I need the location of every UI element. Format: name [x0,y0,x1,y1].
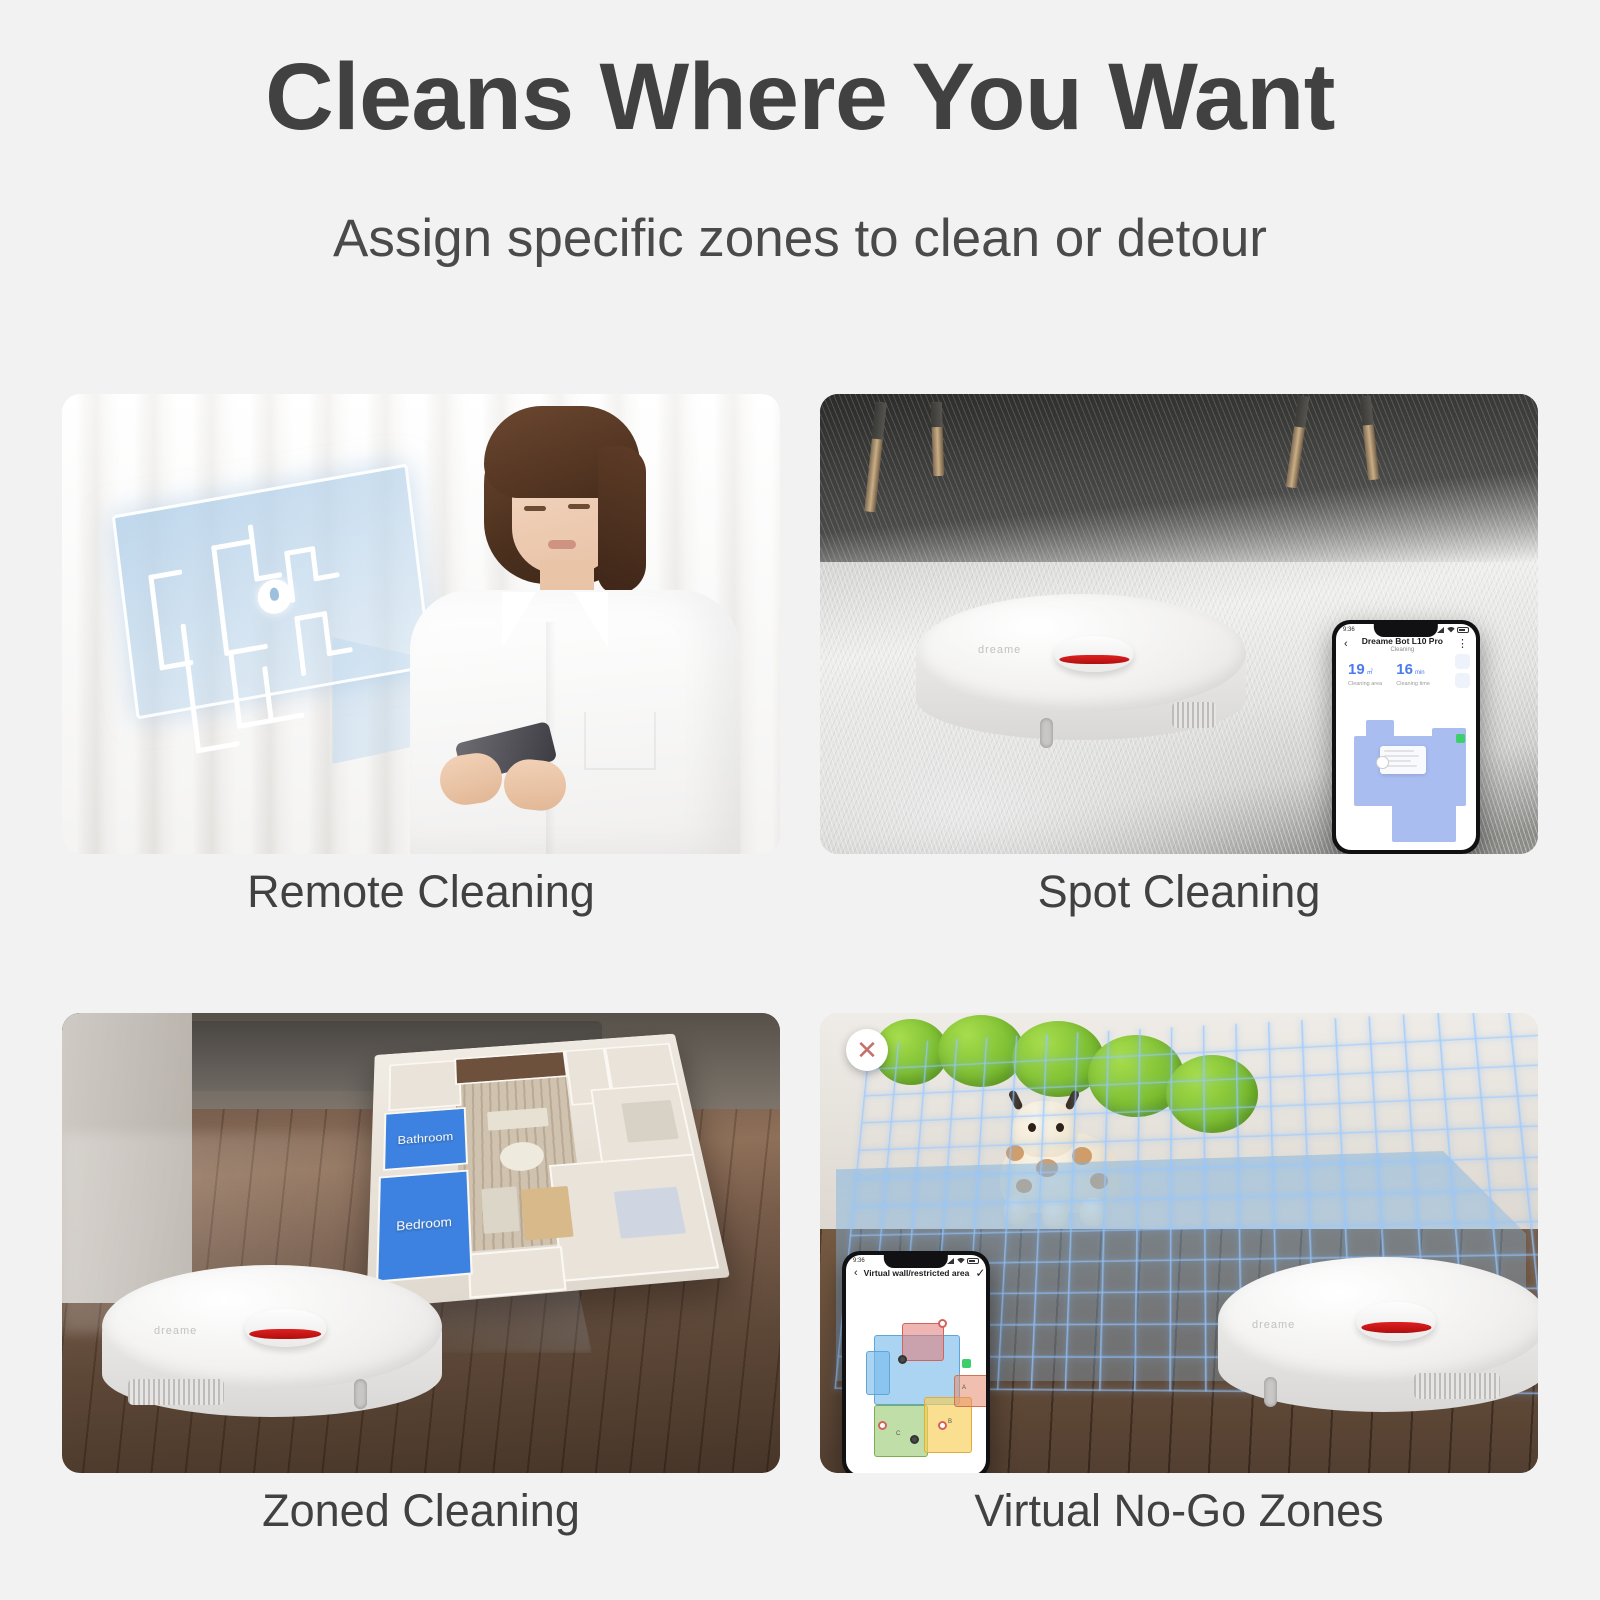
lidar-turret [1357,1302,1436,1342]
chevron-left-icon[interactable]: ‹ [854,1268,858,1279]
robot-bumper-slot [1040,718,1053,748]
spot-cleaning-phone[interactable]: 9:36 ‹ Dreame Bot L10 Pro Cleaning [1332,620,1480,854]
app-subtitle: Cleaning [1354,647,1451,653]
zone-green[interactable] [874,1405,928,1457]
hair-side [598,446,646,594]
robot-brand-mark: dreame [1252,1319,1295,1331]
stat-unit: ㎡ [1367,670,1373,676]
move-handle[interactable] [898,1355,907,1364]
x-glyph: ✕ [856,1037,878,1063]
map-tool-button-1[interactable] [1455,654,1470,669]
collar-left [502,592,536,648]
restricted-zone-orange[interactable] [954,1375,986,1407]
feature-panel-zoned-cleaning[interactable]: Bathroom Bedroom dreame Zoned Cleaning [62,1013,780,1573]
lips [548,540,576,549]
panel-caption-remote: Remote Cleaning [62,866,780,918]
stat-label: Cleaning time [1396,681,1430,687]
feature-panel-virtual-nogo-zones[interactable]: ✕ dreame 9:36 [820,1013,1538,1573]
stat-value: 19 [1348,661,1365,678]
panel-caption-nogo: Virtual No-Go Zones [820,1485,1538,1537]
remote-cleaning-image [62,394,780,854]
robot-bumper-slot [1264,1377,1277,1407]
stat-value: 16 [1396,661,1413,678]
zoned-cleaning-image: Bathroom Bedroom dreame [62,1013,780,1473]
status-icons [947,1258,979,1264]
wifi-icon [1447,627,1455,633]
rug-dark-band [820,394,1538,562]
robot-vacuum: dreame [916,594,1246,754]
chevron-left-icon[interactable]: ‹ [1344,639,1348,650]
eye-left [524,506,546,511]
zone-label-a: A [962,1385,966,1391]
robot-brand-mark: dreame [154,1325,197,1337]
move-handle[interactable] [910,1435,919,1444]
zone-label: Bathroom [397,1130,453,1147]
app-title: Dreame Bot L10 Pro [1354,636,1451,646]
wall-endpoint-start[interactable] [878,1421,887,1430]
nogo-zones-image: ✕ dreame 9:36 [820,1013,1538,1473]
check-icon[interactable]: ✓ [975,1267,985,1279]
battery-icon [1457,627,1469,633]
zone-blue-ext[interactable] [866,1351,890,1395]
person-using-app [362,394,780,854]
zone-label: Bedroom [396,1214,452,1233]
panel-caption-spot: Spot Cleaning [820,866,1538,918]
robot-marker-icon [1376,756,1389,769]
collar-right [574,592,608,648]
spot-cleaning-image: dreame 9:36 ‹ [820,394,1538,854]
app-title: Virtual wall/restricted area [864,1268,970,1278]
restricted-zone-red[interactable] [902,1323,944,1361]
navbar-titles: Virtual wall/restricted area [864,1268,970,1278]
robot-vacuum: dreame [102,1265,442,1433]
map-side-buttons[interactable] [1455,654,1470,692]
more-vertical-icon[interactable]: ⋮ [1457,639,1468,650]
dock-station-icon [1456,734,1465,743]
nogo-zones-phone[interactable]: 9:36 ‹ Virtual wall/restricted area ✓ [842,1251,990,1473]
wifi-icon [957,1258,965,1264]
dock-station-icon [962,1359,971,1368]
resize-handle[interactable] [938,1319,947,1328]
map-tool-button-2[interactable] [1455,673,1470,688]
phone-screen[interactable]: 9:36 ‹ Virtual wall/restricted area ✓ [846,1255,986,1473]
navbar-titles: Dreame Bot L10 Pro Cleaning [1354,636,1451,653]
lidar-turret [245,1309,327,1348]
robot-bumper-slot [354,1379,367,1409]
battery-icon [967,1258,979,1264]
shirt-pocket [584,712,656,770]
robot-side-vent [1414,1373,1500,1399]
close-x-icon: ✕ [846,1029,888,1071]
wall-endpoint-end[interactable] [938,1421,947,1430]
phone-notch [884,1255,948,1268]
zone-label-b: B [948,1419,952,1425]
status-icons [1437,627,1469,633]
stat-cleaning-area: 19㎡ Cleaning area [1348,661,1382,687]
robot-side-vent [1172,702,1216,728]
product-feature-page: Cleans Where You Want Assign specific zo… [0,0,1600,1600]
feature-panel-remote-cleaning[interactable]: Remote Cleaning [62,394,780,954]
zone-label-c: C [896,1431,900,1437]
lidar-turret [1055,636,1134,673]
stat-label: Cleaning area [1348,681,1382,687]
stat-cleaning-time: 16min Cleaning time [1396,661,1430,687]
phone-notch [1374,624,1438,637]
stat-unit: min [1415,670,1425,676]
signal-icon [947,1258,955,1264]
robot-side-vent [128,1379,224,1405]
panel-caption-zoned: Zoned Cleaning [62,1485,780,1537]
status-time: 9:36 [1343,627,1355,633]
page-subheadline: Assign specific zones to clean or detour [0,208,1600,269]
page-headline: Cleans Where You Want [0,48,1600,148]
status-time: 9:36 [853,1258,865,1264]
robot-brand-mark: dreame [978,644,1021,656]
eye-right [568,504,590,509]
phone-screen[interactable]: 9:36 ‹ Dreame Bot L10 Pro Cleaning [1336,624,1476,850]
robot-vacuum: dreame [1218,1257,1538,1429]
feature-panel-spot-cleaning[interactable]: dreame 9:36 ‹ [820,394,1538,954]
signal-icon [1437,627,1445,633]
zone-bathroom: Bathroom [383,1107,468,1171]
